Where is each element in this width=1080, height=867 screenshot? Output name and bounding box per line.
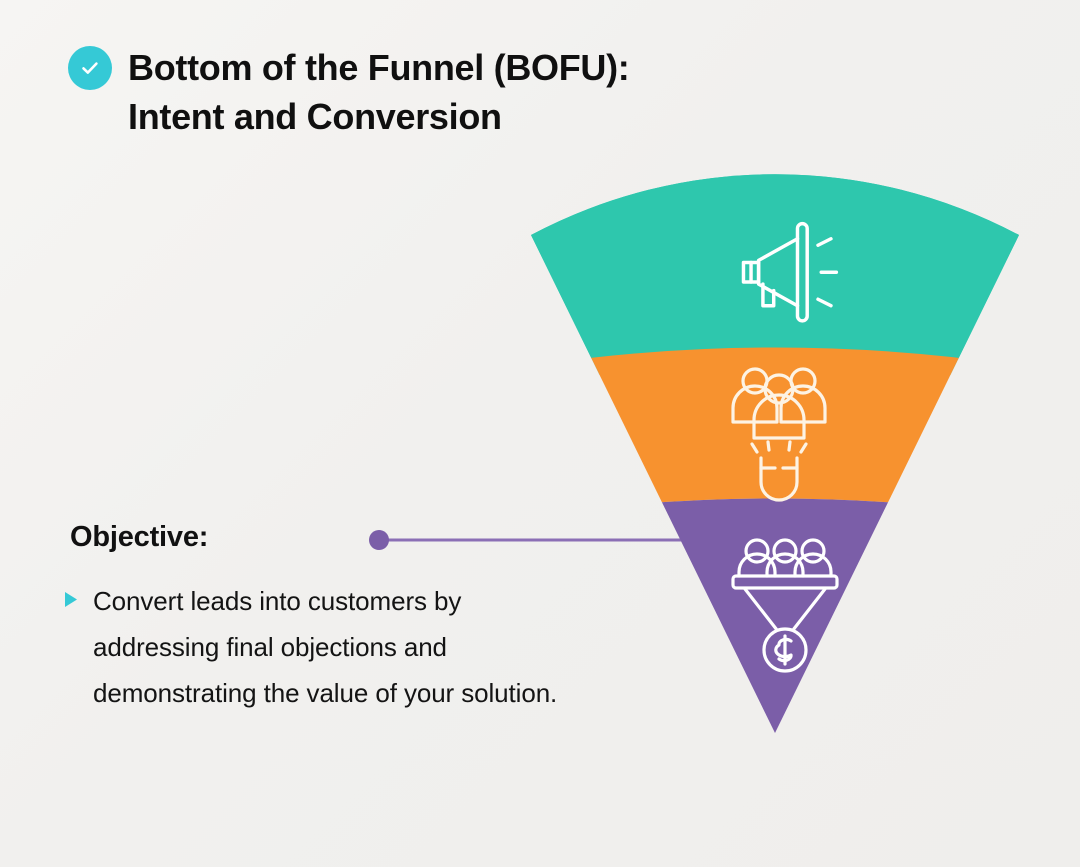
triangle-right-icon bbox=[64, 591, 79, 613]
objective-label: Objective: bbox=[70, 521, 208, 554]
slide-canvas: Bottom of the Funnel (BOFU): Intent and … bbox=[0, 0, 1080, 867]
page-title: Bottom of the Funnel (BOFU): Intent and … bbox=[128, 42, 630, 141]
connector-dot bbox=[369, 530, 389, 550]
funnel-diagram bbox=[505, 160, 1045, 760]
check-circle-icon bbox=[68, 46, 112, 90]
slide-header: Bottom of the Funnel (BOFU): Intent and … bbox=[68, 42, 630, 141]
